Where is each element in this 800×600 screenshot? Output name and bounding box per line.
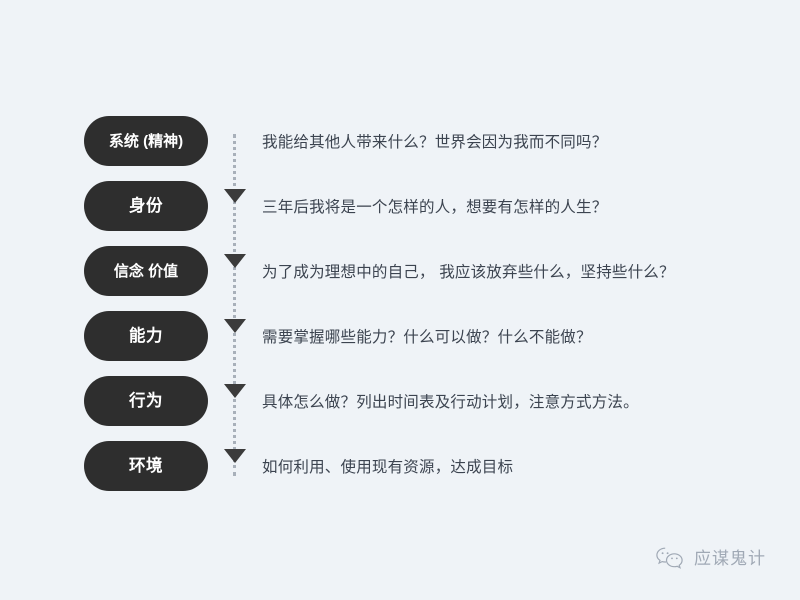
watermark-label: 应谋鬼计 bbox=[694, 550, 766, 567]
level-pill-behavior[interactable]: 行为 bbox=[84, 376, 208, 426]
level-row: 环境 如何利用、使用现有资源，达成目标 bbox=[0, 441, 800, 491]
level-pill-label: 信念 价值 bbox=[114, 264, 178, 279]
wechat-icon bbox=[655, 546, 685, 570]
level-pill-label: 行为 bbox=[129, 393, 163, 410]
level-pill-label: 身份 bbox=[129, 198, 163, 215]
level-pill-identity[interactable]: 身份 bbox=[84, 181, 208, 231]
slide-canvas: 系统 (精神) 我能给其他人带来什么？世界会因为我而不同吗？ 身份 三年后我将是… bbox=[0, 0, 800, 600]
level-question-behavior: 具体怎么做？列出时间表及行动计划，注意方式方法。 bbox=[262, 376, 639, 426]
level-pill-label: 能力 bbox=[129, 328, 163, 345]
level-pill-capability[interactable]: 能力 bbox=[84, 311, 208, 361]
level-row: 能力 需要掌握哪些能力？什么可以做？什么不能做？ bbox=[0, 311, 800, 361]
level-row: 行为 具体怎么做？列出时间表及行动计划，注意方式方法。 bbox=[0, 376, 800, 426]
level-pill-system[interactable]: 系统 (精神) bbox=[84, 116, 208, 166]
level-row: 系统 (精神) 我能给其他人带来什么？世界会因为我而不同吗？ bbox=[0, 116, 800, 166]
level-pill-environment[interactable]: 环境 bbox=[84, 441, 208, 491]
level-question-belief-value: 为了成为理想中的自己， 我应该放弃些什么，坚持些什么？ bbox=[262, 246, 675, 296]
level-question-identity: 三年后我将是一个怎样的人，想要有怎样的人生？ bbox=[262, 181, 607, 231]
level-pill-belief-value[interactable]: 信念 价值 bbox=[84, 246, 208, 296]
level-question-capability: 需要掌握哪些能力？什么可以做？什么不能做？ bbox=[262, 311, 592, 361]
watermark: 应谋鬼计 bbox=[655, 546, 766, 570]
level-row: 身份 三年后我将是一个怎样的人，想要有怎样的人生？ bbox=[0, 181, 800, 231]
level-row: 信念 价值 为了成为理想中的自己， 我应该放弃些什么，坚持些什么？ bbox=[0, 246, 800, 296]
level-pill-label: 系统 (精神) bbox=[109, 134, 183, 149]
level-pill-label: 环境 bbox=[129, 458, 163, 475]
level-question-environment: 如何利用、使用现有资源，达成目标 bbox=[262, 441, 513, 491]
level-question-system: 我能给其他人带来什么？世界会因为我而不同吗？ bbox=[262, 116, 607, 166]
